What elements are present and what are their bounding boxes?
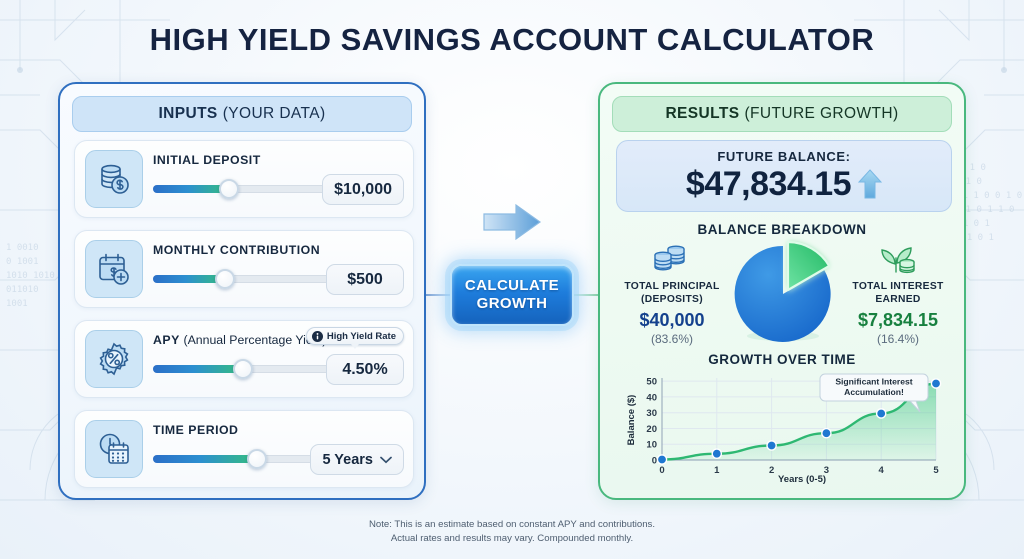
svg-text:0: 0 (652, 455, 657, 466)
inputs-panel: INPUTS (YOUR DATA) INITIAL DEPOSIT (58, 82, 426, 500)
svg-text:Significant Interest: Significant Interest (835, 377, 912, 387)
calculate-growth-button[interactable]: CALCULATE GROWTH (450, 264, 574, 326)
value-text: $500 (347, 271, 383, 289)
balance-breakdown-title: BALANCE BREAKDOWN (600, 222, 964, 237)
chevron-down-icon (380, 456, 392, 464)
input-label-apy: APY (Annual Percentage Yield) (153, 333, 326, 347)
connector-line-right (574, 294, 600, 296)
svg-text:10: 10 (646, 440, 657, 451)
value-initial-deposit[interactable]: $10,000 (322, 174, 404, 205)
svg-text:30: 30 (646, 408, 657, 419)
input-row-apy[interactable]: APY (Annual Percentage Yield) High Yield… (74, 320, 414, 398)
label-line-2: EARNED (842, 294, 954, 307)
total-interest-block: TOTAL INTEREST EARNED $7,834.15 (16.4%) (842, 240, 954, 346)
total-principal-amount: $40,000 (616, 310, 728, 331)
label-line-1: TOTAL PRINCIPAL (616, 281, 728, 294)
label-text: APY (153, 333, 180, 347)
calendar-dollar-icon (85, 240, 143, 298)
total-principal-label: TOTAL PRINCIPAL (DEPOSITS) (616, 281, 728, 307)
chart-y-tick-labels: 01020304050 (646, 377, 657, 467)
chart-y-axis-label: Balance ($) (626, 395, 637, 446)
calculate-line-1: CALCULATE (465, 277, 559, 295)
slider-apy[interactable] (153, 364, 353, 374)
input-label-monthly-contribution: MONTHLY CONTRIBUTION (153, 243, 320, 257)
footer-line-1: Note: This is an estimate based on const… (0, 518, 1024, 532)
inputs-header-title: INPUTS (158, 105, 217, 123)
svg-text:40: 40 (646, 392, 657, 403)
label-text: MONTHLY CONTRIBUTION (153, 243, 320, 257)
slider-fill (153, 455, 257, 463)
slider-knob[interactable] (233, 359, 253, 379)
value-monthly-contribution[interactable]: $500 (326, 264, 404, 295)
input-row-monthly-contribution[interactable]: MONTHLY CONTRIBUTION $500 (74, 230, 414, 308)
balance-breakdown-pie-chart (734, 236, 836, 349)
future-balance-label: FUTURE BALANCE: (717, 149, 850, 164)
future-balance-value: $47,834.15 (686, 165, 882, 204)
coins-stack-icon (616, 240, 728, 276)
results-header-subtitle: (FUTURE GROWTH) (744, 105, 898, 123)
input-row-time-period[interactable]: TIME PERIOD 5 Years (74, 410, 414, 488)
trend-up-arrow-icon (858, 169, 882, 199)
gear-percent-icon (85, 330, 143, 388)
svg-text:2: 2 (769, 465, 774, 476)
input-row-initial-deposit[interactable]: INITIAL DEPOSIT $10,000 (74, 140, 414, 218)
svg-text:4: 4 (879, 465, 885, 476)
slider-fill (153, 365, 243, 373)
future-balance-card: FUTURE BALANCE: $47,834.15 (616, 140, 952, 212)
input-label-time-period: TIME PERIOD (153, 423, 238, 437)
total-interest-label: TOTAL INTEREST EARNED (842, 281, 954, 307)
plant-growth-icon (842, 240, 954, 276)
results-header-title: RESULTS (665, 105, 739, 123)
clock-calendar-icon (85, 420, 143, 478)
future-balance-amount: $47,834.15 (686, 165, 851, 204)
svg-text:20: 20 (646, 424, 657, 435)
svg-text:5: 5 (933, 465, 939, 476)
slider-fill (153, 185, 229, 193)
flow-arrow-icon (480, 200, 544, 249)
total-interest-amount: $7,834.15 (842, 310, 954, 331)
label-line-2: (DEPOSITS) (616, 294, 728, 307)
inputs-header-subtitle: (YOUR DATA) (223, 105, 326, 123)
growth-over-time-chart: 012345 01020304050 Years (0-5) Balance (… (624, 368, 944, 486)
slider-knob[interactable] (219, 179, 239, 199)
label-text: TIME PERIOD (153, 423, 238, 437)
footer-line-2: Actual rates and results may vary. Compo… (0, 532, 1024, 546)
value-text: $10,000 (334, 181, 392, 199)
value-apy[interactable]: 4.50% (326, 354, 404, 385)
results-panel: RESULTS (FUTURE GROWTH) FUTURE BALANCE: … (598, 82, 966, 500)
label-line-1: TOTAL INTEREST (842, 281, 954, 294)
page-title: HIGH YIELD SAVINGS ACCOUNT CALCULATOR (0, 22, 1024, 58)
svg-text:1: 1 (714, 465, 720, 476)
input-label-initial-deposit: INITIAL DEPOSIT (153, 153, 261, 167)
growth-over-time-title: GROWTH OVER TIME (600, 352, 964, 367)
svg-text:50: 50 (646, 377, 657, 388)
total-interest-percent: (16.4%) (842, 332, 954, 346)
high-yield-rate-badge[interactable]: High Yield Rate (306, 327, 404, 345)
calculate-line-2: GROWTH (477, 295, 548, 313)
badge-label: High Yield Rate (327, 331, 396, 342)
connector-line-left (424, 294, 452, 296)
dropdown-time-period[interactable]: 5 Years (310, 444, 404, 475)
footer-note: Note: This is an estimate based on const… (0, 518, 1024, 546)
inputs-panel-header: INPUTS (YOUR DATA) (72, 96, 412, 132)
slider-knob[interactable] (215, 269, 235, 289)
total-principal-percent: (83.6%) (616, 332, 728, 346)
info-icon (312, 331, 323, 342)
total-principal-block: TOTAL PRINCIPAL (DEPOSITS) $40,000 (83.6… (616, 240, 728, 346)
slider-monthly-contribution[interactable] (153, 274, 353, 284)
chart-x-axis-label: Years (0-5) (778, 474, 826, 485)
coins-stack-icon (85, 150, 143, 208)
svg-text:Accumulation!: Accumulation! (844, 387, 904, 397)
value-text: 4.50% (342, 361, 387, 379)
label-text: INITIAL DEPOSIT (153, 153, 261, 167)
slider-knob[interactable] (247, 449, 267, 469)
value-text: 5 Years (322, 452, 373, 468)
results-panel-header: RESULTS (FUTURE GROWTH) (612, 96, 952, 132)
label-sub-text: (Annual Percentage Yield) (183, 333, 326, 347)
svg-text:0: 0 (659, 465, 664, 476)
